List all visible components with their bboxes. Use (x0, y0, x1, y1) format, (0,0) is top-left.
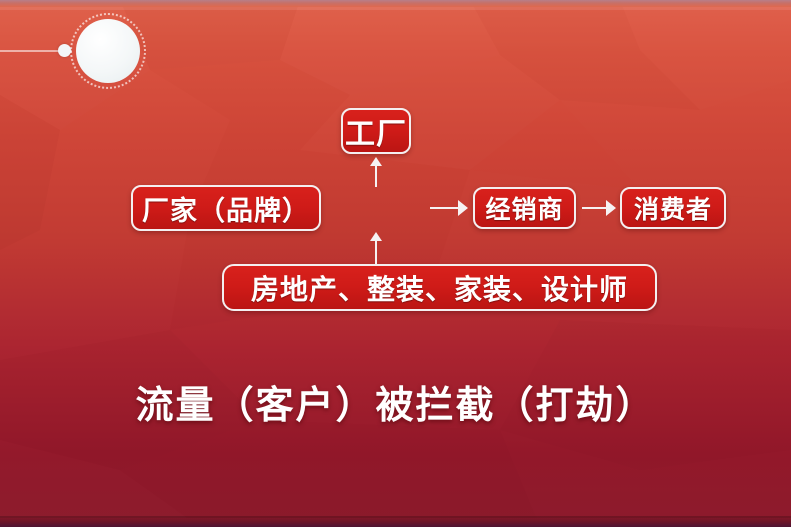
white-circle-icon (76, 19, 140, 83)
top-edge-strip (0, 0, 791, 7)
arrow-brand-to-factory-icon (369, 157, 383, 187)
bottom-edge-strip (0, 518, 791, 527)
node-brand[interactable]: 厂家（品牌） (131, 185, 321, 231)
arrow-shaft (430, 207, 460, 209)
node-channels[interactable]: 房地产、整装、家装、设计师 (222, 264, 657, 311)
node-factory[interactable]: 工厂 (341, 108, 411, 154)
decorative-bubble (0, 12, 160, 92)
arrow-shaft (375, 238, 377, 264)
arrow-shaft (375, 163, 377, 187)
node-dealer[interactable]: 经销商 (473, 187, 576, 229)
slide-caption: 流量（客户）被拦截（打劫） (0, 374, 791, 429)
node-consumer[interactable]: 消费者 (620, 187, 726, 229)
arrow-head (370, 157, 382, 166)
slide-canvas: 工厂 厂家（品牌） 经销商 消费者 房地产、整装、家装、设计师 流量（客户）被拦… (0, 0, 791, 527)
arrow-head (606, 200, 616, 216)
top-edge-highlight (0, 7, 791, 10)
arrow-head (370, 232, 382, 241)
arrow-brand-to-dealer-icon (430, 200, 470, 216)
arrow-channels-to-factory-icon (369, 232, 383, 264)
arrow-head (458, 200, 468, 216)
arrow-shaft (582, 207, 608, 209)
arrow-dealer-to-consumer-icon (582, 200, 618, 216)
